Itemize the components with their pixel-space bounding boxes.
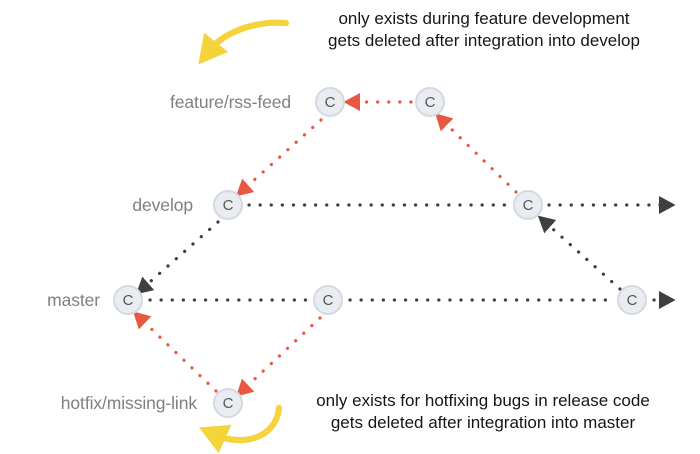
- branch-label-master: master: [47, 290, 100, 311]
- edge-develop-to-feature: [243, 120, 321, 190]
- feature-callout-text: only exists during feature development g…: [328, 8, 640, 52]
- feature-callout-arrow-icon: [210, 23, 286, 50]
- branch-label-hotfix-missing-link: hotfix/missing-link: [61, 393, 197, 414]
- commit-node-master-2[interactable]: C: [313, 285, 343, 315]
- git-branching-diagram: feature/rss-feed develop master hotfix/m…: [0, 0, 700, 454]
- commit-node-master-3[interactable]: C: [617, 285, 647, 315]
- edge-feature-to-develop: [442, 120, 516, 192]
- edge-hotfix-to-master: [140, 318, 216, 391]
- hotfix-callout-line-1: only exists for hotfixing bugs in releas…: [316, 390, 650, 412]
- feature-callout-line-1: only exists during feature development: [328, 8, 640, 30]
- branch-label-feature-rss-feed: feature/rss-feed: [170, 92, 291, 113]
- hotfix-callout-line-2: gets deleted after integration into mast…: [316, 412, 650, 434]
- branch-label-develop: develop: [132, 195, 193, 216]
- commit-node-hotfix-1[interactable]: C: [213, 388, 243, 418]
- commit-node-develop-1[interactable]: C: [213, 190, 243, 220]
- commit-node-feature-1[interactable]: C: [315, 87, 345, 117]
- commit-node-master-1[interactable]: C: [113, 285, 143, 315]
- hotfix-callout-text: only exists for hotfixing bugs in releas…: [316, 390, 650, 434]
- diagram-canvas: [0, 0, 700, 454]
- edge-develop-to-master: [143, 222, 218, 288]
- commit-node-develop-2[interactable]: C: [513, 190, 543, 220]
- edge-master-to-hotfix: [243, 318, 320, 390]
- edge-master-to-develop: [545, 222, 620, 289]
- feature-callout-line-2: gets deleted after integration into deve…: [328, 30, 640, 52]
- commit-node-feature-2[interactable]: C: [415, 87, 445, 117]
